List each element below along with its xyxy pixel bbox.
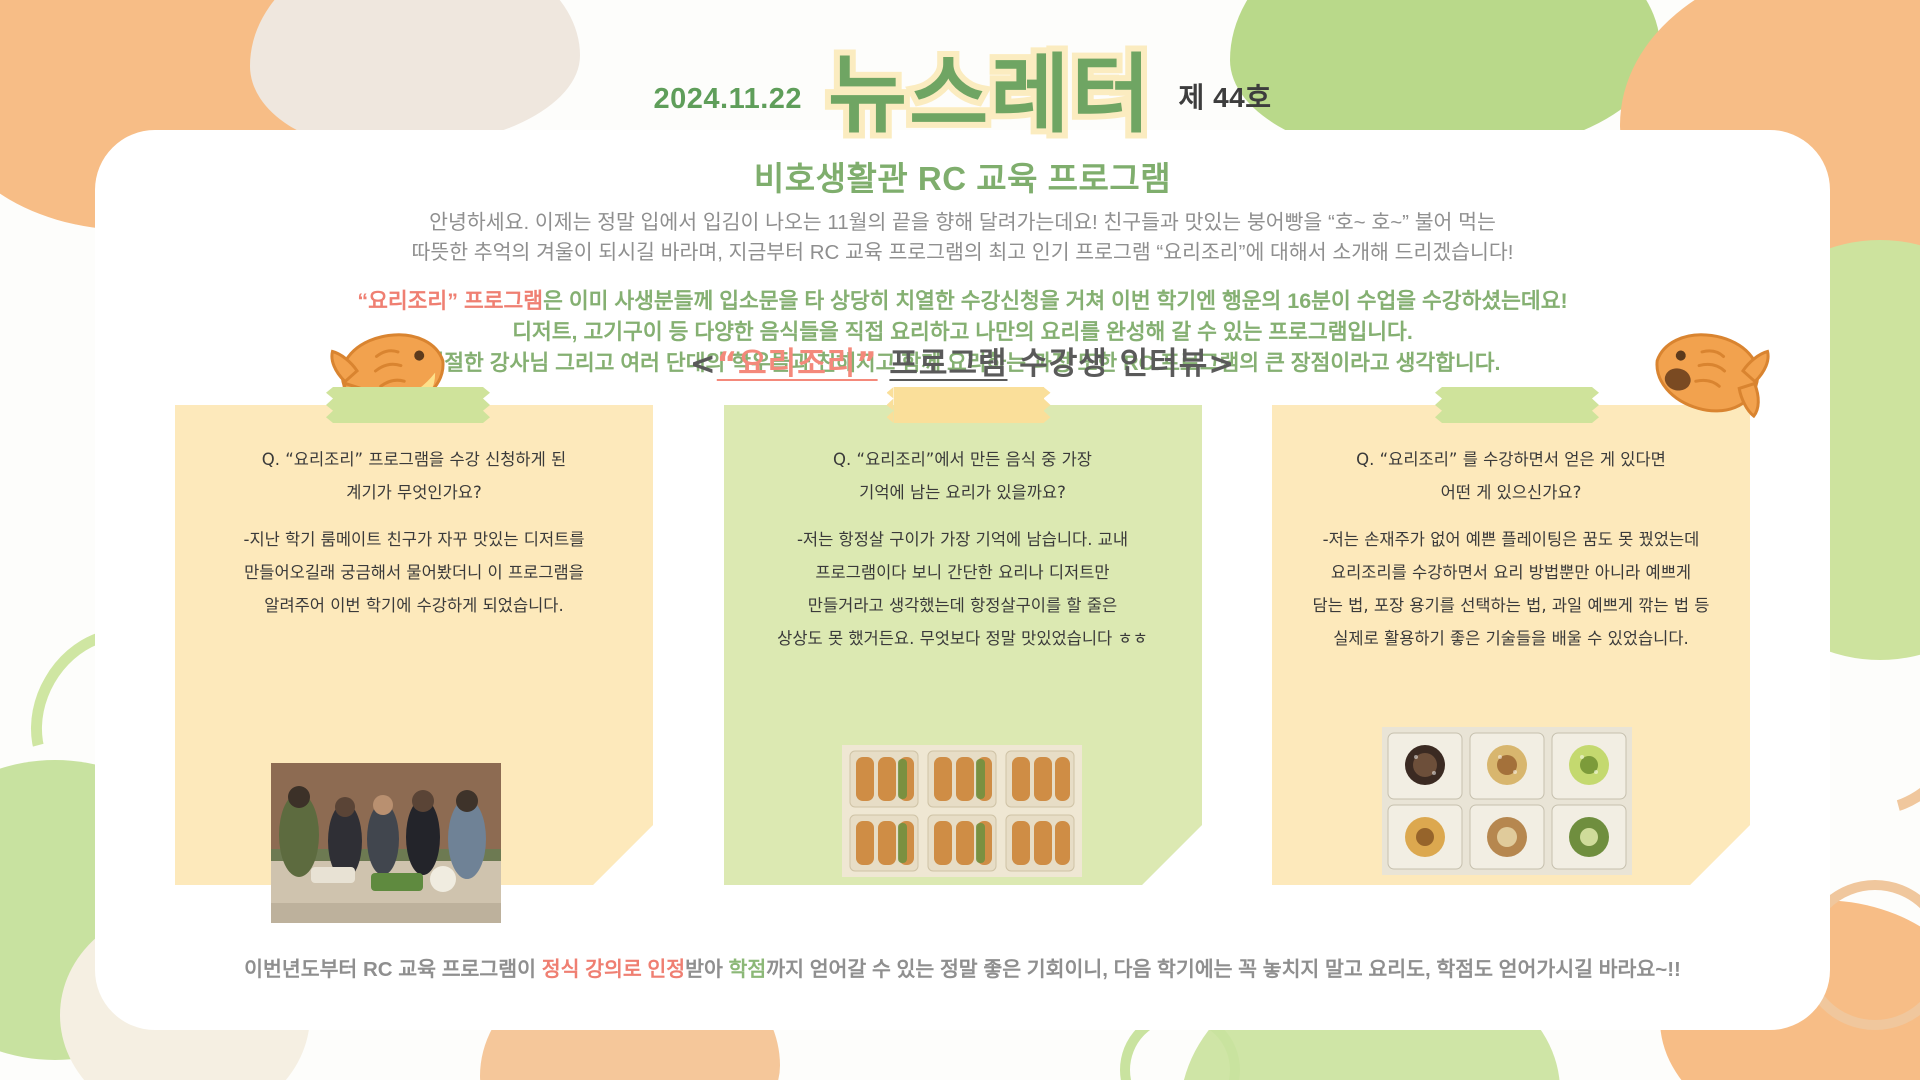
washi-tape-1	[333, 387, 483, 423]
card-3-question-line-2: 어떤 게 있으신가요?	[1298, 476, 1724, 509]
page-title: 뉴스레터	[828, 52, 1152, 138]
highlight-line-1-rest: 은 이미 사생분들께 입소문을 타 상당히 치열한 수강신청을 거쳐 이번 학기…	[543, 289, 1568, 313]
card-3-question: Q. “요리조리” 를 수강하면서 얻은 게 있다면 어떤 게 있으신가요?	[1298, 443, 1724, 509]
footer-part-2: 받아	[685, 958, 728, 981]
card-1-answer-line-3: 알려주어 이번 학기에 수강하게 되었습니다.	[201, 589, 627, 622]
card-1-answer: -지난 학기 룸메이트 친구가 자꾸 맛있는 디저트를 만들어오길래 궁금해서 …	[201, 523, 627, 622]
card-2-answer-line-1: -저는 항정살 구이가 가장 기억에 남습니다. 교내	[750, 523, 1176, 556]
interview-header-program-word: 프로그램	[889, 346, 1007, 382]
interview-card-3: Q. “요리조리” 를 수강하면서 얻은 게 있다면 어떤 게 있으신가요? -…	[1272, 405, 1750, 885]
card-3-answer-line-4: 실제로 활용하기 좋은 기술들을 배울 수 있었습니다.	[1298, 622, 1724, 655]
dessert-plating-photo	[1382, 727, 1632, 875]
card-2-answer: -저는 항정살 구이가 가장 기억에 남습니다. 교내 프로그램이다 보니 간단…	[750, 523, 1176, 655]
card-3-answer-line-1: -저는 손재주가 없어 예쁜 플레이팅은 꿈도 못 꿨었는데	[1298, 523, 1724, 556]
card-3-answer-line-2: 요리조리를 수강하면서 요리 방법뿐만 아니라 예쁘게	[1298, 556, 1724, 589]
footer-part-3: 까지 얻어갈 수 있는 정말 좋은 기회이니, 다음 학기에는 꼭 놓치지 말고…	[766, 958, 1681, 981]
footer-note: 이번년도부터 RC 교육 프로그램이 정식 강의로 인정받아 학점까지 얻어갈 …	[95, 952, 1830, 982]
footer-accent-course: 정식 강의로 인정	[542, 958, 685, 981]
card-2-answer-line-2: 프로그램이다 보니 간단한 요리나 디저트만	[750, 556, 1176, 589]
interview-card-2: Q. “요리조리”에서 만든 음식 중 가장 기억에 남는 요리가 있을까요? …	[724, 405, 1202, 885]
interview-header-program-quoted: “요리조리”	[717, 346, 878, 382]
washi-tape-2	[894, 387, 1044, 423]
cooking-class-photo	[271, 763, 501, 923]
intro-line-2: 따뜻한 추억의 겨울이 되시길 바라며, 지금부터 RC 교육 프로그램의 최고…	[155, 238, 1770, 268]
publish-date: 2024.11.22	[654, 83, 803, 138]
card-2-question: Q. “요리조리”에서 만든 음식 중 가장 기억에 남는 요리가 있을까요?	[750, 443, 1176, 509]
intro-line-1: 안녕하세요. 이제는 정말 입에서 입김이 나오는 11월의 끝을 향해 달려가…	[155, 208, 1770, 238]
card-1-answer-line-2: 만들어오길래 궁금해서 물어봤더니 이 프로그램을	[201, 556, 627, 589]
interview-header-open: <	[690, 346, 717, 382]
grilled-pork-photo	[842, 745, 1082, 877]
card-1-question-line-2: 계기가 무엇인가요?	[201, 476, 627, 509]
card-1-question: Q. “요리조리” 프로그램을 수강 신청하게 된 계기가 무엇인가요?	[201, 443, 627, 509]
subtitle: 비호생활관 RC 교육 프로그램	[95, 152, 1830, 200]
newsletter-sheet: 2024.11.22 뉴스레터 제 44호 비호생활관 RC 교육 프로그램 안…	[95, 130, 1830, 1030]
header: 2024.11.22 뉴스레터 제 44호	[95, 52, 1830, 138]
footer-part-1: 이번년도부터 RC 교육 프로그램이	[244, 958, 542, 981]
card-2-question-line-1: Q. “요리조리”에서 만든 음식 중 가장	[750, 443, 1176, 476]
interview-header-rest: 수강생 인터뷰>	[1019, 346, 1235, 382]
card-2-question-line-2: 기억에 남는 요리가 있을까요?	[750, 476, 1176, 509]
highlight-line-1: “요리조리” 프로그램은 이미 사생분들께 입소문을 타 상당히 치열한 수강신…	[155, 286, 1770, 317]
card-2-answer-line-3: 만들거라고 생각했는데 항정살구이를 할 줄은	[750, 589, 1176, 622]
issue-number: 제 44호	[1179, 76, 1272, 138]
card-3-answer: -저는 손재주가 없어 예쁜 플레이팅은 꿈도 못 꿨었는데 요리조리를 수강하…	[1298, 523, 1724, 655]
card-1-answer-line-1: -지난 학기 룸메이트 친구가 자꾸 맛있는 디저트를	[201, 523, 627, 556]
washi-tape-3	[1442, 387, 1592, 423]
footer-accent-credit: 학점	[729, 958, 767, 981]
card-1-question-line-1: Q. “요리조리” 프로그램을 수강 신청하게 된	[201, 443, 627, 476]
interview-card-1: Q. “요리조리” 프로그램을 수강 신청하게 된 계기가 무엇인가요? -지난…	[175, 405, 653, 885]
card-3-answer-line-3: 담는 법, 포장 용기를 선택하는 법, 과일 예쁘게 깎는 법 등	[1298, 589, 1724, 622]
interview-cards: Q. “요리조리” 프로그램을 수강 신청하게 된 계기가 무엇인가요? -지난…	[175, 405, 1750, 905]
program-name-accent: “요리조리” 프로그램	[357, 289, 543, 313]
card-3-question-line-1: Q. “요리조리” 를 수강하면서 얻은 게 있다면	[1298, 443, 1724, 476]
card-2-answer-line-4: 상상도 못 했거든요. 무엇보다 정말 맛있었습니다 ㅎㅎ	[750, 622, 1176, 655]
